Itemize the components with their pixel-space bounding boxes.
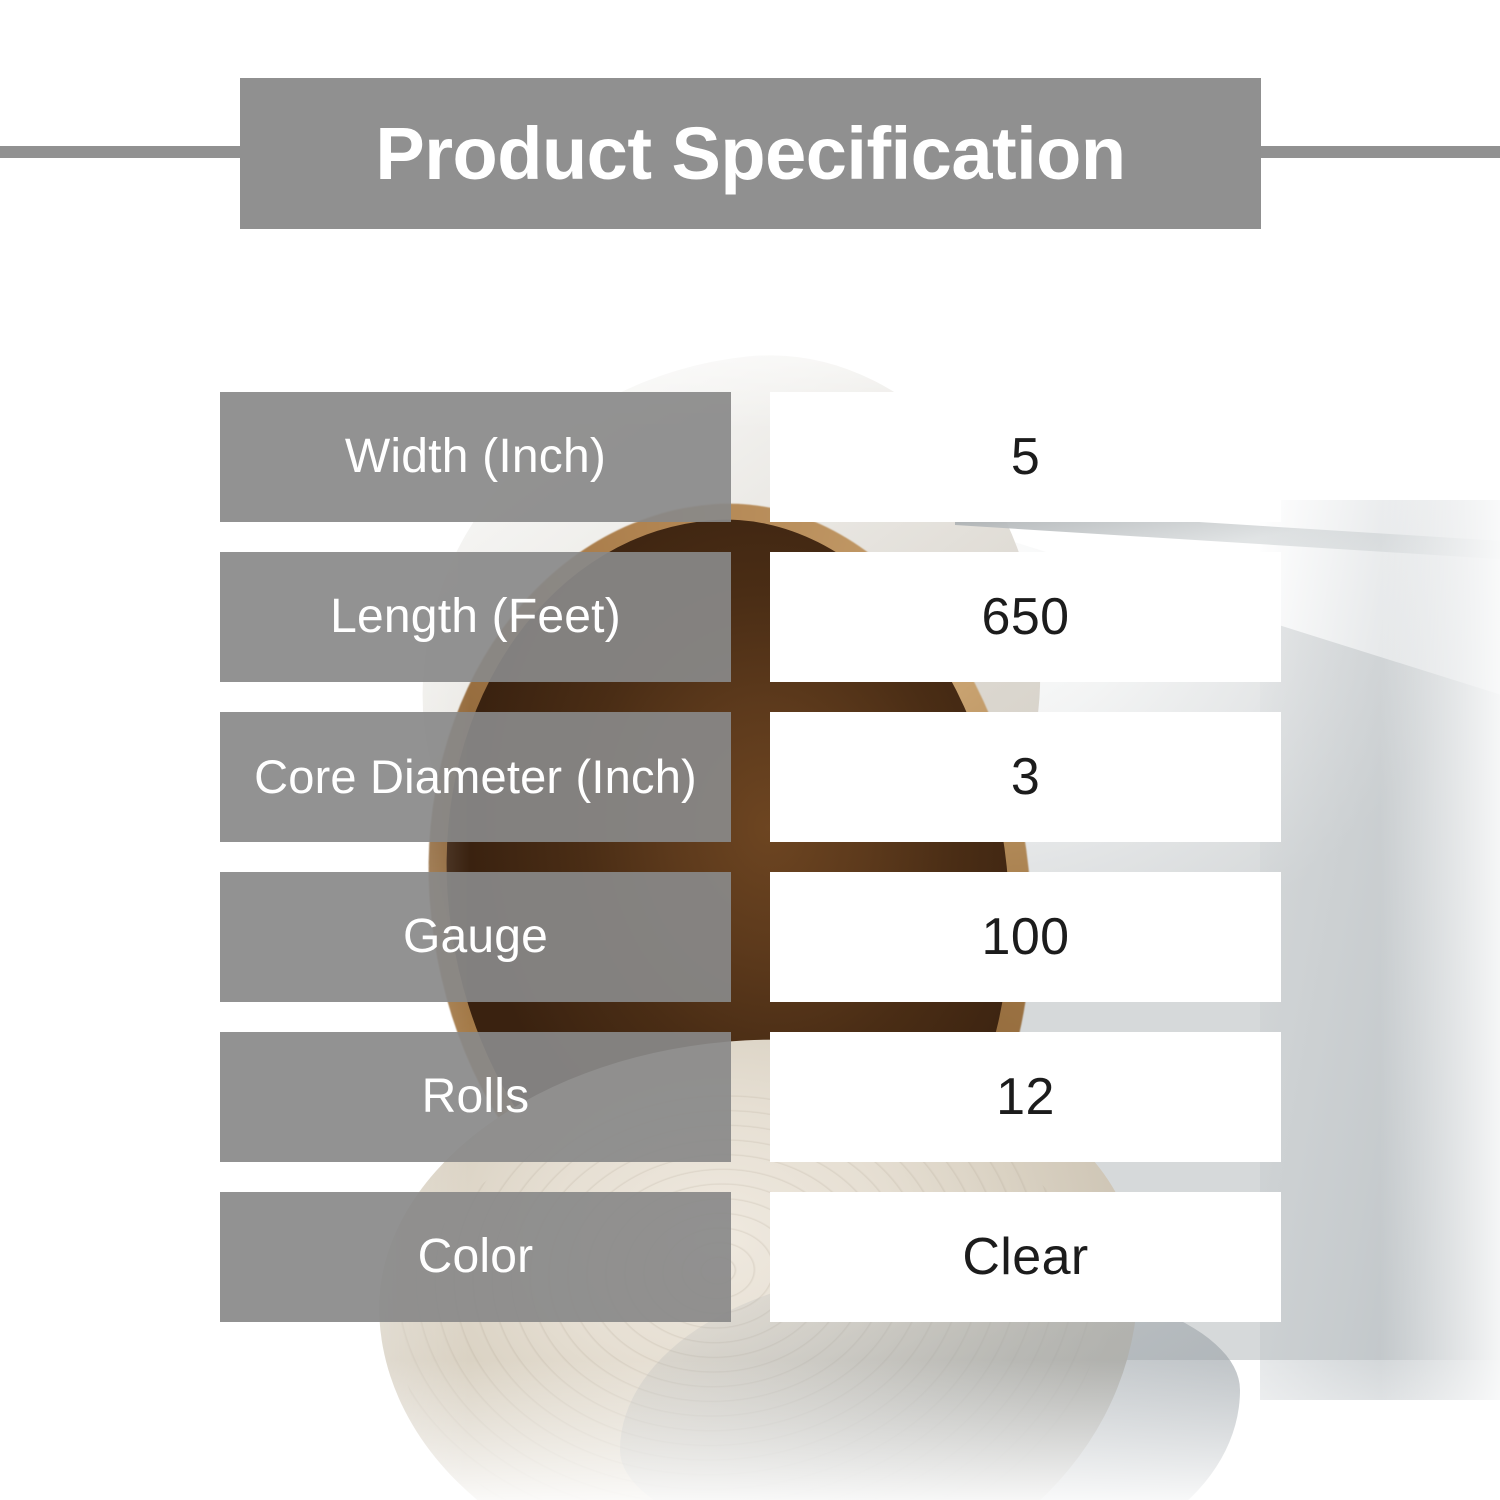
- spec-value-length: 650: [770, 552, 1281, 682]
- spec-value-rolls: 12: [770, 1032, 1281, 1162]
- spec-label-text: Width (Inch): [345, 433, 606, 482]
- specification-table: Width (Inch) 5 Length (Feet) 650 Core Di…: [0, 0, 1500, 1500]
- spec-value-core-diameter: 3: [770, 712, 1281, 842]
- spec-label-text: Core Diameter (Inch): [254, 753, 697, 801]
- spec-label-gauge: Gauge: [220, 872, 731, 1002]
- spec-value-text: 100: [982, 911, 1070, 963]
- spec-label-text: Gauge: [403, 913, 548, 962]
- spec-value-text: 5: [1011, 431, 1040, 483]
- spec-value-text: 3: [1011, 751, 1040, 803]
- spec-label-text: Color: [418, 1233, 534, 1282]
- spec-label-text: Length (Feet): [330, 593, 621, 642]
- spec-value-text: Clear: [962, 1231, 1088, 1283]
- product-specification-infographic: Product Specification Width (Inch) 5 Len…: [0, 0, 1500, 1500]
- spec-label-text: Rolls: [422, 1073, 530, 1122]
- spec-label-color: Color: [220, 1192, 731, 1322]
- spec-value-gauge: 100: [770, 872, 1281, 1002]
- spec-value-color: Clear: [770, 1192, 1281, 1322]
- spec-label-width: Width (Inch): [220, 392, 731, 522]
- spec-value-width: 5: [770, 392, 1281, 522]
- spec-label-core-diameter: Core Diameter (Inch): [220, 712, 731, 842]
- spec-value-text: 12: [996, 1071, 1055, 1123]
- spec-label-length: Length (Feet): [220, 552, 731, 682]
- spec-value-text: 650: [982, 591, 1070, 643]
- spec-label-rolls: Rolls: [220, 1032, 731, 1162]
